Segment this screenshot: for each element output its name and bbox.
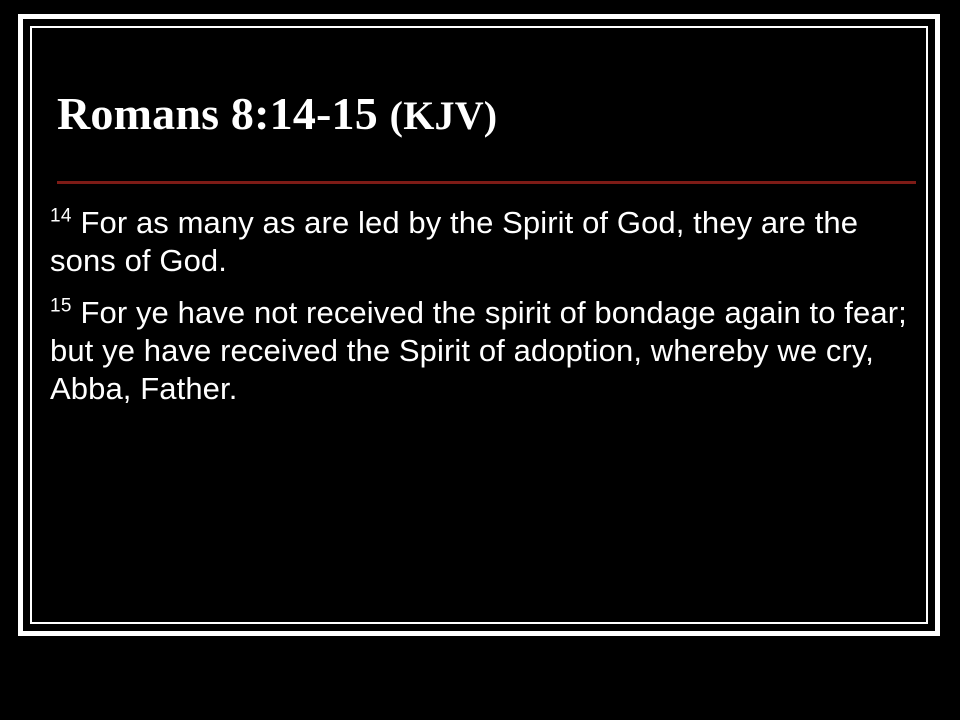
verse-text: For ye have not received the spirit of b…	[50, 295, 907, 406]
slide-title-block: Romans 8:14-15 (KJV)	[57, 90, 917, 138]
verse-text: For as many as are led by the Spirit of …	[50, 205, 858, 278]
verse-paragraph: 15 For ye have not received the spirit o…	[50, 294, 918, 408]
verse-paragraph: 14 For as many as are led by the Spirit …	[50, 204, 918, 280]
slide-content: Romans 8:14-15 (KJV) 14 For as many as a…	[32, 28, 926, 622]
title-scripture-reference: Romans 8:14-15	[57, 88, 390, 139]
verse-number: 15	[50, 296, 72, 317]
page-title: Romans 8:14-15 (KJV)	[57, 90, 917, 138]
slide: Romans 8:14-15 (KJV) 14 For as many as a…	[0, 0, 960, 720]
title-bible-version: (KJV)	[390, 93, 498, 138]
scripture-body: 14 For as many as are led by the Spirit …	[50, 204, 918, 408]
title-divider-rule	[57, 181, 916, 184]
verse-number: 14	[50, 206, 72, 227]
